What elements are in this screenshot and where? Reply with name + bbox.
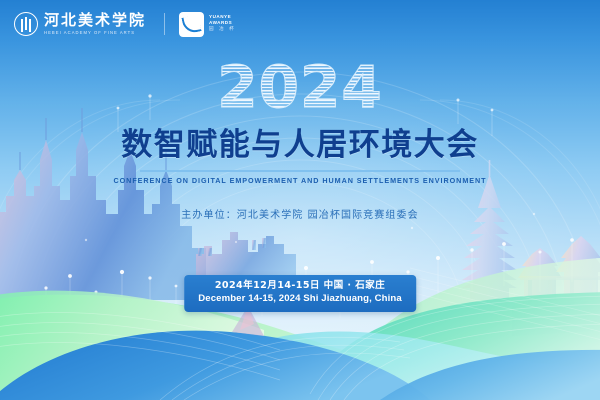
page-title: 数智赋能与人居环境大会 <box>0 128 600 164</box>
title-divider <box>0 170 600 172</box>
logo-right-line2: AWARDS <box>209 21 236 26</box>
page-subtitle: CONFERENCE ON DIGITAL EMPOWERMENT AND HU… <box>0 176 600 185</box>
logo-divider <box>164 13 165 35</box>
logo-left-en-name: HEBEI ACADEMY OF FINE ARTS <box>44 31 146 36</box>
date-location-en: December 14-15, 2024 Shi Jiazhuang, Chin… <box>198 293 402 306</box>
date-location-badge: 2024年12月14-15日 中国 · 石家庄 December 14-15, … <box>184 275 416 312</box>
logo-left-cn-name: 河北美术学院 <box>44 13 146 28</box>
logo-bar: 河北美术学院 HEBEI ACADEMY OF FINE ARTS YUANYE… <box>0 0 600 48</box>
banner-content: 2024 数智赋能与人居环境大会 CONFERENCE ON DIGITAL E… <box>0 0 600 400</box>
swoosh-square-icon <box>179 12 204 37</box>
logo-right-line1: YUANYE <box>209 15 236 20</box>
circular-seal-icon <box>14 12 38 36</box>
logo-right-line3: 园 冶 杯 <box>209 28 236 33</box>
year-headline: 2024 <box>0 58 600 116</box>
host-organizations: 主办单位：河北美术学院 园冶杯国际竞赛组委会 <box>0 206 600 221</box>
logo-yuanye-awards[interactable]: YUANYE AWARDS 园 冶 杯 <box>179 12 236 37</box>
logo-hebei-academy[interactable]: 河北美术学院 HEBEI ACADEMY OF FINE ARTS <box>14 12 146 36</box>
date-location-cn: 2024年12月14-15日 中国 · 石家庄 <box>198 280 402 293</box>
conference-banner: 河北美术学院 HEBEI ACADEMY OF FINE ARTS YUANYE… <box>0 0 600 400</box>
